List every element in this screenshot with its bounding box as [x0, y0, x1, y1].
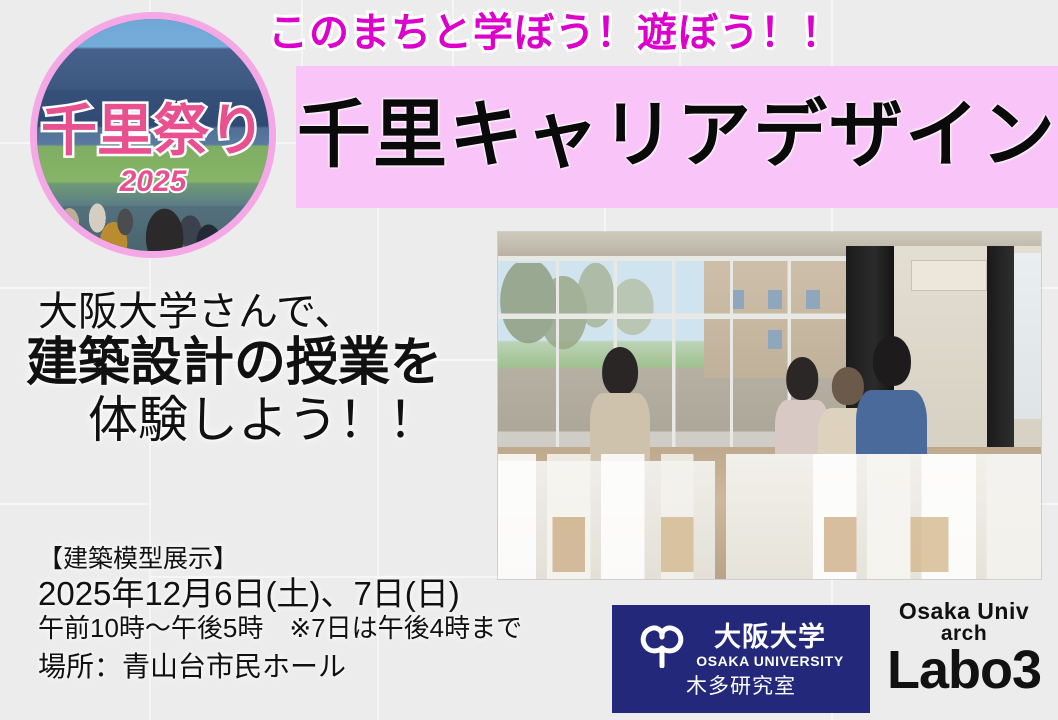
message-line-3: 体験しよう！！: [26, 394, 486, 446]
poster-title: 千里キャリアデザイン: [297, 98, 1057, 172]
message-block: 大阪大学さんで、 建築設計の授業を 体験しよう！！: [26, 292, 486, 446]
top-headline-text: このまちと学ぼう！遊ぼう！！: [268, 13, 842, 53]
photo-ac-unit: [911, 260, 987, 291]
event-poster: このまちと学ぼう！遊ぼう！！ 千里キャリアデザイン 千里祭り 2025 大阪大学…: [0, 0, 1058, 720]
title-banner: 千里キャリアデザイン: [296, 66, 1058, 208]
badge-year: 2025: [37, 167, 269, 197]
labo3-logo: Osaka Univ arch Labo3: [880, 600, 1048, 715]
main-exhibition-photo: [498, 232, 1041, 579]
details-place: 場所：青山台市民ホール: [38, 651, 518, 683]
message-line-1: 大阪大学さんで、: [26, 292, 486, 334]
photo-cardboard-models: [498, 517, 1041, 573]
details-date: 2025年12月6日(土)、7日(日): [38, 575, 518, 613]
details-time: 午前10時〜午後5時 ※7日は午後4時まで: [38, 614, 518, 644]
handai-lab-name: 木多研究室: [686, 676, 796, 697]
details-heading: 【建築模型展示】: [38, 545, 518, 574]
badge-title: 千里祭り: [37, 103, 269, 159]
photo-curtain-right: [987, 246, 1014, 454]
osaka-university-logo: 大阪大学 OSAKA UNIVERSITY 木多研究室: [612, 605, 870, 713]
handai-logo-en: OSAKA UNIVERSITY: [696, 653, 844, 670]
festival-badge: 千里祭り 2025: [30, 12, 276, 258]
event-details-block: 【建築模型展示】 2025年12月6日(土)、7日(日) 午前10時〜午後5時 …: [38, 545, 518, 683]
labo3-line-1: Osaka Univ: [899, 600, 1029, 623]
message-line-2: 建築設計の授業を: [26, 336, 486, 390]
handai-crest-icon: [638, 624, 686, 668]
labo3-line-3: Labo3: [887, 643, 1041, 697]
handai-logo-jp: 大阪大学: [714, 623, 826, 651]
